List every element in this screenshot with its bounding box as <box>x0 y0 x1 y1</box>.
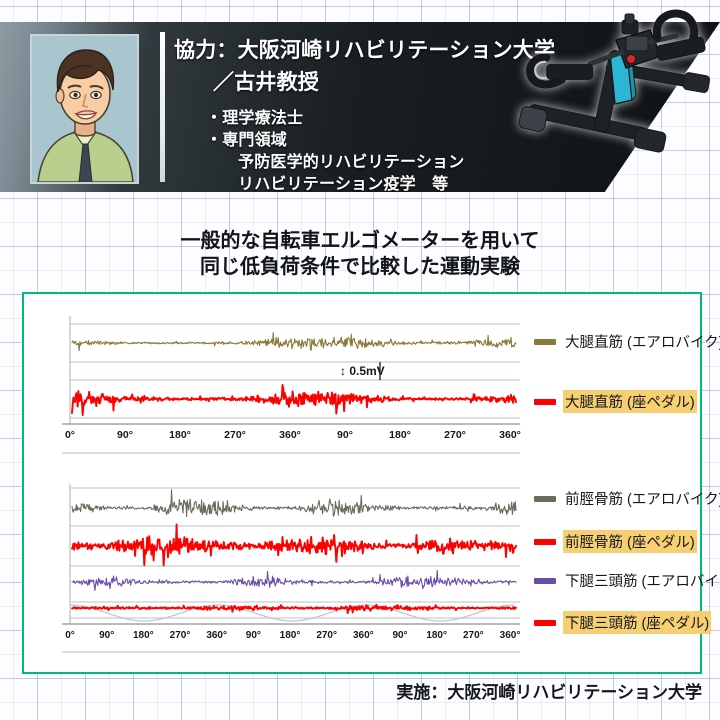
xtick-label-4: 360° <box>279 429 301 441</box>
professor-portrait <box>30 34 139 184</box>
xtick-label-8: 360° <box>499 429 521 441</box>
xtick-label-9: 90° <box>392 630 407 641</box>
banner-bullet-1: ・理学療法士 <box>206 104 303 128</box>
banner-title-line2: ／古井教授 <box>213 66 319 96</box>
pedal-exerciser-image <box>498 8 714 173</box>
legend-swatch-olive <box>534 339 556 345</box>
legend-label: 前脛骨筋 (エアロバイク) <box>563 487 720 510</box>
banner-bullet-4: リハビリテーション疫学 等 <box>238 170 448 192</box>
xtick-label-3: 270° <box>170 630 191 641</box>
banner-bullet-2: ・専門領域 <box>206 126 287 150</box>
experiment-title-line1: 一般的な自転車エルゴメーターを用いて <box>0 228 720 254</box>
xtick-label-2: 180° <box>169 429 191 441</box>
emg-trace-0 <box>72 490 516 517</box>
legend-item-tibialis-anterior-seated-pedal[interactable]: 前脛骨筋 (座ペダル) <box>534 530 697 553</box>
banner-bullet-3: 予防医学的リハビリテーション <box>238 148 464 172</box>
legend-swatch-red <box>534 539 556 545</box>
lower-emg-chart: 0°90°180°270°360°90°180°270°360°90°180°2… <box>50 478 530 656</box>
xtick-label-6: 180° <box>280 630 301 641</box>
xtick-label-12: 360° <box>500 630 521 641</box>
legend-item-rectus-femoris-aerobike[interactable]: 大腿直筋 (エアロバイク) <box>534 330 720 353</box>
xtick-label-0: 0° <box>65 429 75 441</box>
legend-label: 下腿三頭筋 (エアロバイク) <box>563 569 720 592</box>
upper-emg-plot: 0°90°180°270°360°90°180°270°360° <box>50 306 530 456</box>
legend-label: 下腿三頭筋 (座ペダル) <box>563 611 711 634</box>
xtick-label-5: 90° <box>337 429 353 441</box>
legend-item-tibialis-anterior-aerobike[interactable]: 前脛骨筋 (エアロバイク) <box>534 487 720 510</box>
legend-label: 前脛骨筋 (座ペダル) <box>563 530 697 553</box>
emg-trace-0 <box>72 333 516 351</box>
legend-swatch-red <box>534 399 556 405</box>
legend-swatch-purple <box>534 578 556 584</box>
legend-label: 大腿直筋 (エアロバイク) <box>563 330 720 353</box>
lower-emg-plot: 0°90°180°270°360°90°180°270°360°90°180°2… <box>50 478 530 656</box>
footer-credit: 実施：大阪河崎リハビリテーション大学 <box>396 678 702 703</box>
experiment-title-line2: 同じ低負荷条件で比較した運動実験 <box>0 254 720 280</box>
xtick-label-10: 180° <box>426 630 447 641</box>
xtick-label-1: 90° <box>117 429 133 441</box>
legend-label: 大腿直筋 (座ペダル) <box>563 390 697 413</box>
emg-trace-2 <box>72 570 516 590</box>
xtick-label-6: 180° <box>389 429 411 441</box>
xtick-label-7: 270° <box>316 630 337 641</box>
xtick-label-7: 270° <box>444 429 466 441</box>
xtick-label-8: 360° <box>353 630 374 641</box>
xtick-label-4: 360° <box>206 630 227 641</box>
banner-divider <box>160 32 165 182</box>
legend-swatch-gray <box>534 496 556 502</box>
legend-item-triceps-surae-seated-pedal[interactable]: 下腿三頭筋 (座ペダル) <box>534 611 711 634</box>
xtick-label-2: 180° <box>133 630 154 641</box>
xtick-label-5: 90° <box>246 630 261 641</box>
xtick-label-0: 0° <box>65 630 75 641</box>
experiment-title: 一般的な自転車エルゴメーターを用いて 同じ低負荷条件で比較した運動実験 <box>0 228 720 280</box>
xtick-label-1: 90° <box>99 630 114 641</box>
legend-swatch-red <box>534 620 556 626</box>
infographic-page: 協力：大阪河崎リハビリテーション大学 ／古井教授 ・理学療法士 ・専門領域 予防… <box>0 0 720 720</box>
legend-item-triceps-surae-aerobike[interactable]: 下腿三頭筋 (エアロバイク) <box>534 569 720 592</box>
emg-trace-1 <box>72 385 516 415</box>
scale-annotation: ↕ 0.5mV <box>340 364 385 378</box>
upper-emg-chart: 0°90°180°270°360°90°180°270°360° <box>50 306 530 456</box>
legend-item-rectus-femoris-seated-pedal[interactable]: 大腿直筋 (座ペダル) <box>534 390 697 413</box>
xtick-label-3: 270° <box>224 429 246 441</box>
emg-trace-1 <box>72 524 516 565</box>
emg-trace-3 <box>72 605 516 613</box>
xtick-label-11: 270° <box>463 630 484 641</box>
